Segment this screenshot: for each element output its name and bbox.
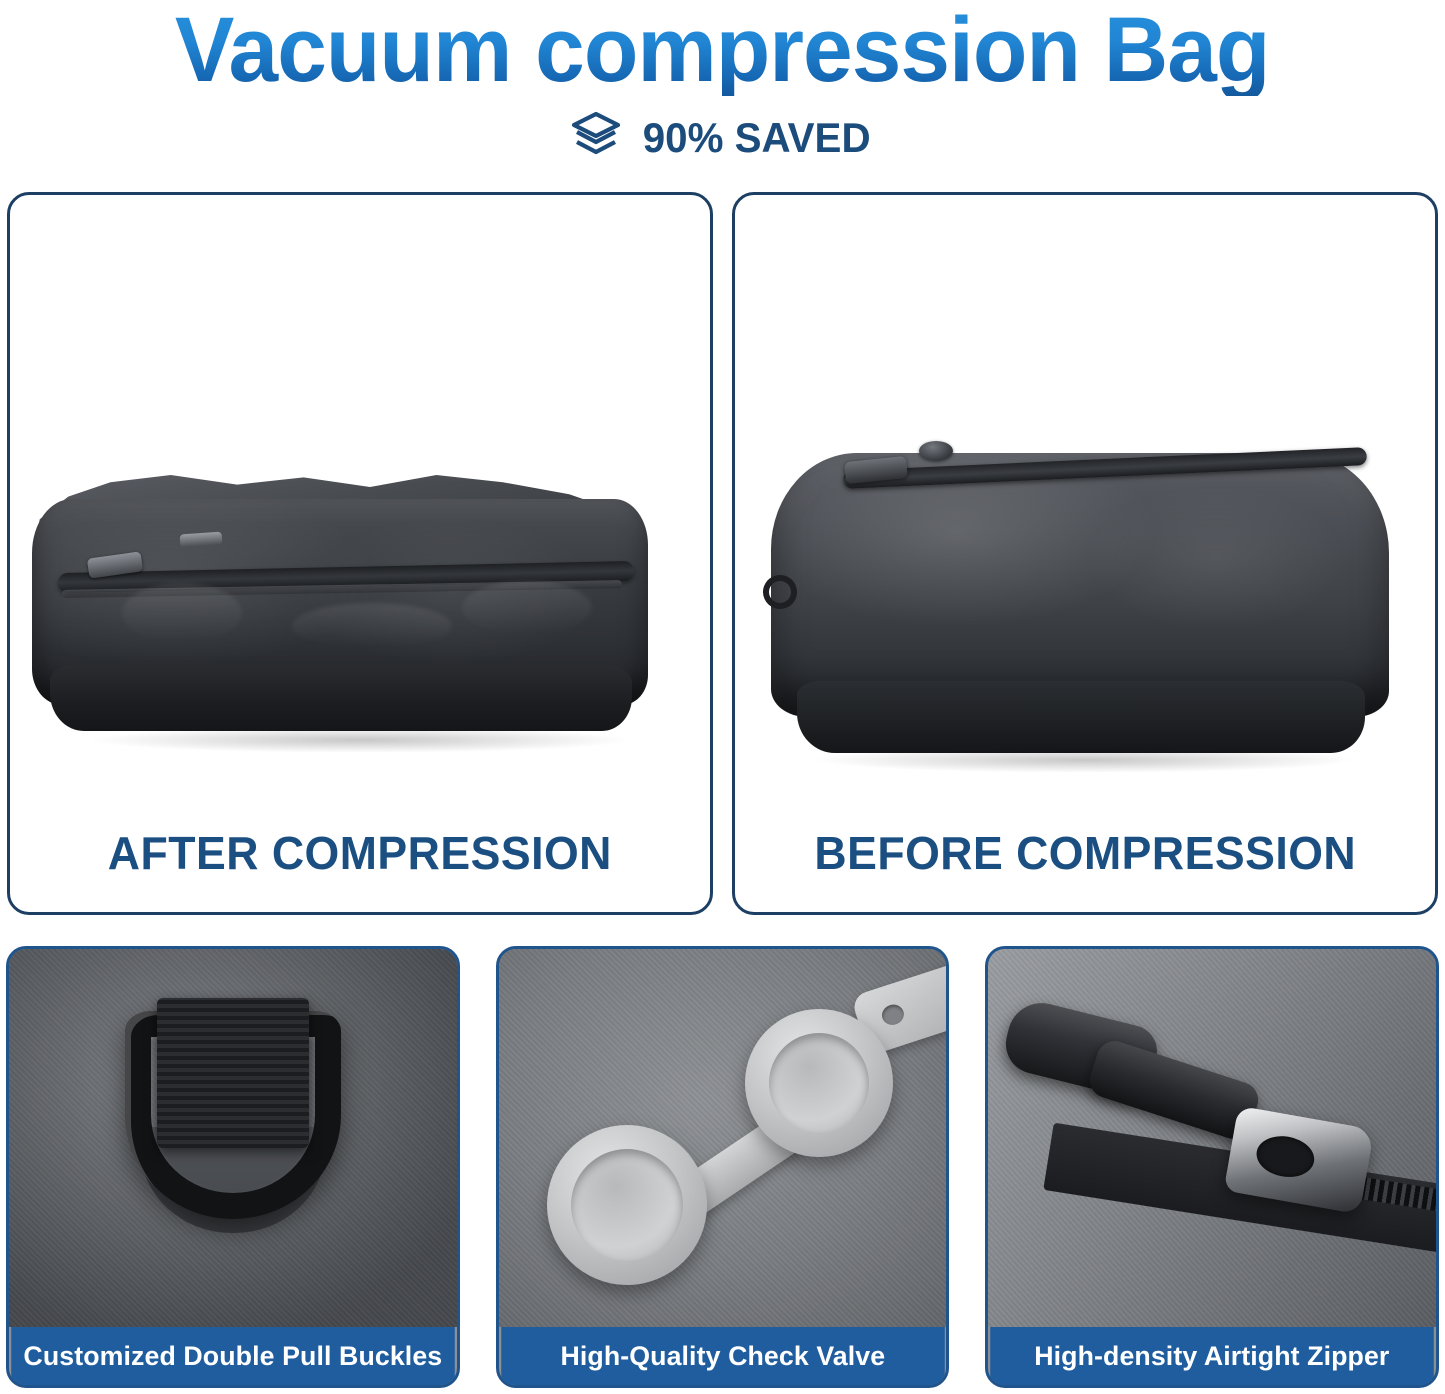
comparison-row: AFTER COMPRESSION BEFORE COMPRESSION — [7, 192, 1438, 915]
check-valve-photo — [499, 949, 947, 1327]
panel-caption-after: AFTER COMPRESSION — [108, 826, 612, 880]
drop-shadow — [812, 747, 1358, 773]
uncompressed-bag-graphic — [771, 423, 1389, 753]
feature-caption-zipper: High-density Airtight Zipper — [991, 1327, 1434, 1385]
zipper-photo — [988, 949, 1436, 1327]
valve-cap-upper — [745, 1009, 893, 1157]
page-title: Vacuum compression Bag — [175, 4, 1270, 96]
header: Vacuum compression Bag 90% SAVED — [0, 0, 1445, 165]
saved-badge-label: 90% SAVED — [643, 114, 871, 162]
feature-caption-buckles: Customized Double Pull Buckles — [11, 1327, 454, 1385]
valve-cap-lower — [547, 1125, 707, 1285]
compressed-bag-graphic — [32, 463, 648, 733]
panel-before-compression: BEFORE COMPRESSION — [732, 192, 1438, 915]
t-pull-handle-icon — [1006, 1013, 1220, 1203]
feature-card-zipper: High-density Airtight Zipper — [985, 946, 1439, 1388]
feature-row: Customized Double Pull Buckles High-Qual… — [6, 946, 1439, 1388]
feature-caption-check-valve: High-Quality Check Valve — [501, 1327, 944, 1385]
feature-card-check-valve: High-Quality Check Valve — [496, 946, 950, 1388]
layers-stack-icon — [570, 110, 622, 165]
drop-shadow — [87, 727, 633, 753]
feature-card-buckles: Customized Double Pull Buckles — [6, 946, 460, 1388]
after-compression-image — [10, 195, 710, 804]
webbing-strap — [157, 998, 309, 1148]
panel-caption-before: BEFORE COMPRESSION — [814, 826, 1356, 880]
panel-after-compression: AFTER COMPRESSION — [7, 192, 713, 915]
buckle-photo — [9, 949, 457, 1327]
before-compression-image — [735, 195, 1435, 804]
saved-badge: 90% SAVED — [0, 110, 1445, 165]
